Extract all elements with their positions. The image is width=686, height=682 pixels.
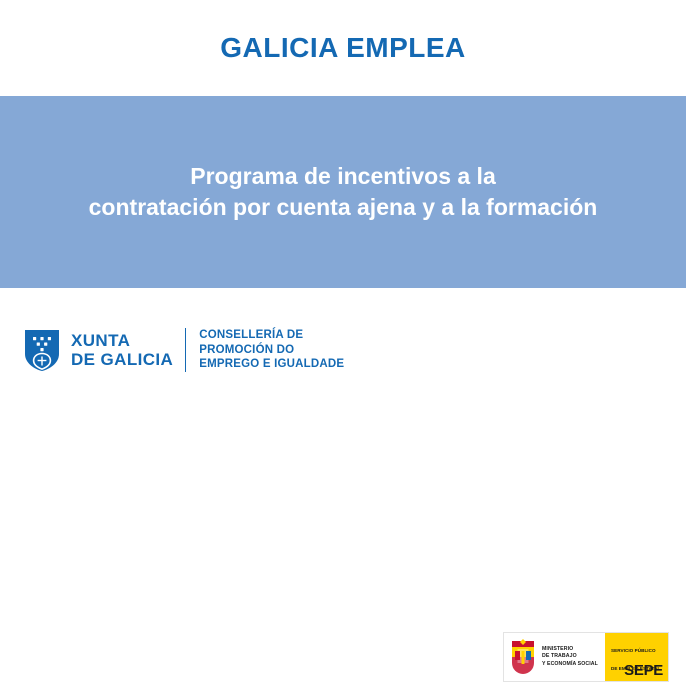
xunta-wordmark-line-2: DE GALICIA <box>71 350 173 369</box>
sepe-block: SERVICIO PÚBLICO DE EMPLEO ESTATAL SEPE <box>605 633 668 681</box>
ministerio-line-3: Y ECONOMÍA SOCIAL <box>542 661 598 667</box>
ministerio-block: MINISTERIO DE TRABAJO Y ECONOMÍA SOCIAL <box>504 633 605 681</box>
program-banner-line-2: contratación por cuenta ajena y a la for… <box>89 192 598 223</box>
page-title: GALICIA EMPLEA <box>220 32 466 64</box>
ministerio-label: MINISTERIO DE TRABAJO Y ECONOMÍA SOCIAL <box>542 646 598 667</box>
conselleria-label: CONSELLERÍA DE PROMOCIÓN DO EMPREGO E IG… <box>199 328 344 372</box>
xunta-shield-icon <box>22 328 62 372</box>
xunta-de-galicia-logo: XUNTA DE GALICIA CONSELLERÍA DE PROMOCIÓ… <box>22 328 344 372</box>
sepe-line-1: SERVICIO PÚBLICO <box>611 648 656 653</box>
xunta-wordmark: XUNTA DE GALICIA <box>71 331 173 369</box>
ministerio-line-2: DE TRABAJO <box>542 653 577 659</box>
xunta-divider <box>185 328 186 372</box>
footer: XUNTA DE GALICIA CONSELLERÍA DE PROMOCIÓ… <box>0 288 686 410</box>
sepe-acronym: SEPE <box>624 663 663 678</box>
gobierno-de-espana-logo: MINISTERIO DE TRABAJO Y ECONOMÍA SOCIAL … <box>503 632 669 682</box>
poster-page: GALICIA EMPLEA Programa de incentivos a … <box>0 0 686 410</box>
escudo-espana-icon <box>508 637 538 677</box>
ministerio-line-1: MINISTERIO <box>542 646 573 652</box>
conselleria-line-3: EMPREGO E IGUALDADE <box>199 358 344 370</box>
xunta-wordmark-line-1: XUNTA <box>71 331 130 350</box>
program-banner-line-1: Programa de incentivos a la <box>89 161 598 192</box>
program-banner-text: Programa de incentivos a la contratación… <box>89 161 598 222</box>
conselleria-line-2: PROMOCIÓN DO <box>199 344 294 356</box>
program-banner: Programa de incentivos a la contratación… <box>0 96 686 288</box>
title-zone: GALICIA EMPLEA <box>0 0 686 96</box>
conselleria-line-1: CONSELLERÍA DE <box>199 329 303 341</box>
